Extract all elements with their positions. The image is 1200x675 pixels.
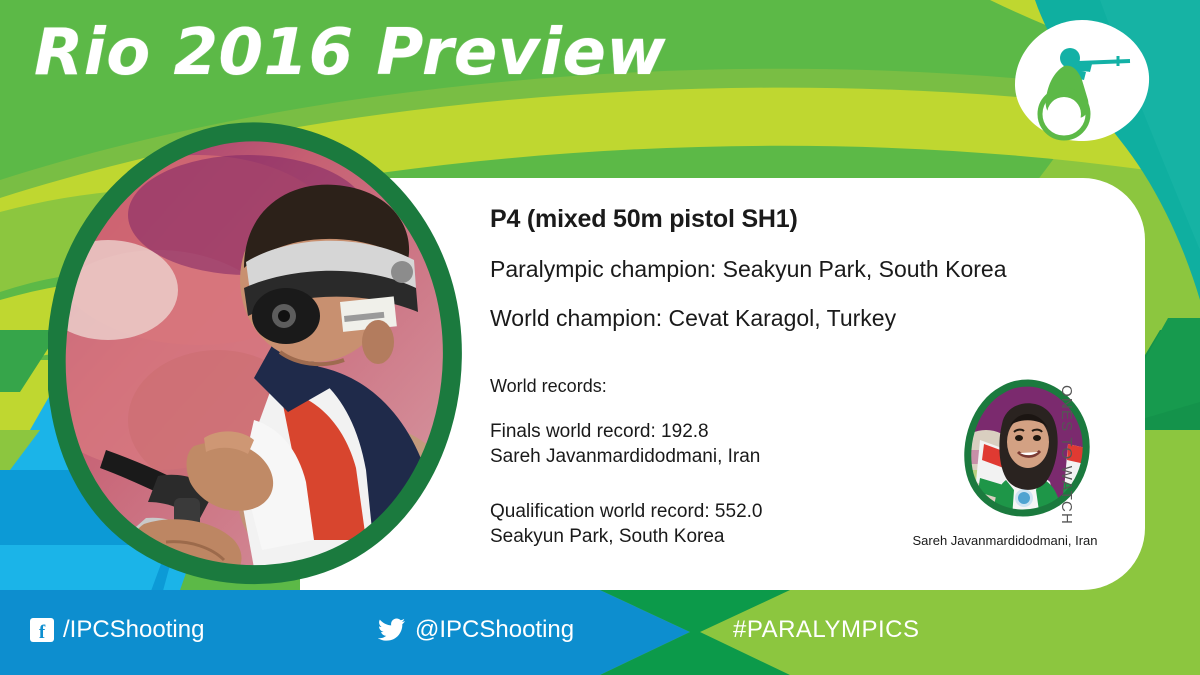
facebook-link[interactable]: f /IPCShooting <box>30 616 204 644</box>
twitter-bird-icon <box>378 618 406 642</box>
facebook-icon: f <box>30 618 54 642</box>
ones-to-watch-caption: Sareh Javanmardidodmani, Iran <box>880 533 1130 548</box>
poster-canvas: Rio 2016 Preview <box>0 0 1200 675</box>
twitter-link[interactable]: @IPCShooting <box>378 616 574 644</box>
page-title: Rio 2016 Preview <box>34 16 666 90</box>
world-champion-line: World champion: Cevat Karagol, Turkey <box>490 305 1070 332</box>
paralympic-champion-line: Paralympic champion: Seakyun Park, South… <box>490 256 1070 283</box>
hashtag-label: #PARALYMPICS <box>733 616 920 644</box>
facebook-handle: /IPCShooting <box>63 616 204 644</box>
event-heading: P4 (mixed 50m pistol SH1) <box>490 205 1070 234</box>
shooting-pictogram-icon <box>1012 18 1152 143</box>
hero-athlete-photo <box>48 120 463 590</box>
ones-to-watch-label: ONES TO WATCH <box>1051 385 1075 555</box>
social-footer-bar: f /IPCShooting @IPCShooting #PARALYMPICS <box>0 590 1200 675</box>
twitter-handle: @IPCShooting <box>415 616 574 644</box>
